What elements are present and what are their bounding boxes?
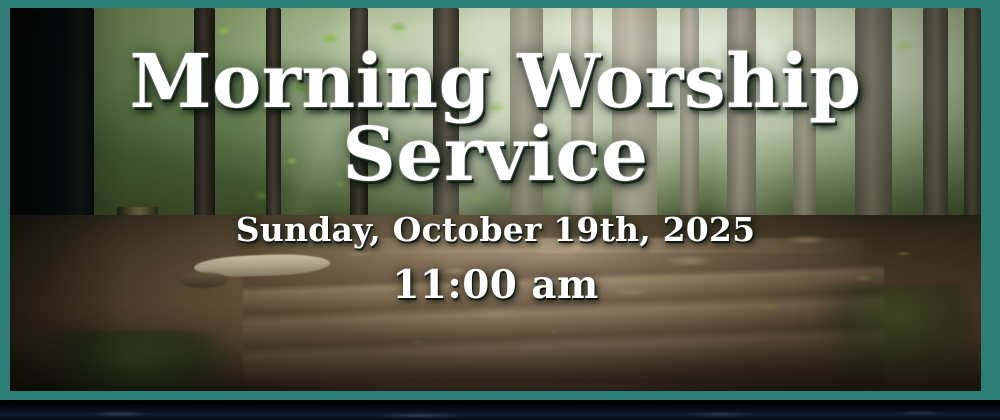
worship-service-banner: Morning Worship Service Sunday, October … [0, 0, 1000, 420]
moss-patch-left [49, 330, 263, 391]
bottom-dark-strip [0, 400, 1000, 420]
forest-background-image [10, 8, 981, 391]
photo-frame [0, 0, 1000, 400]
fallen-log-end [179, 272, 228, 287]
moss-patch-right [797, 284, 972, 368]
